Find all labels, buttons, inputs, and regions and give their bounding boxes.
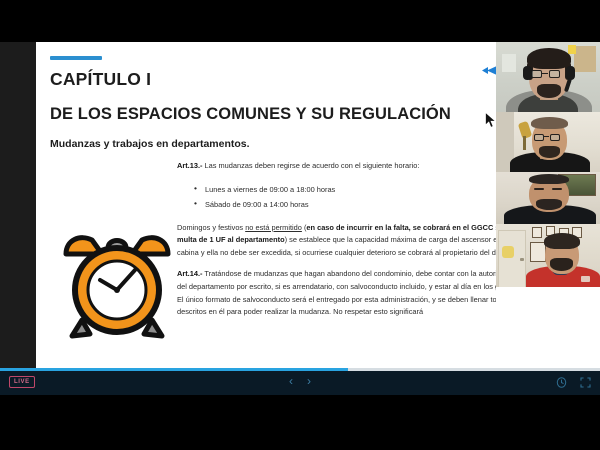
section-title: DE LOS ESPACIOS COMUNES Y SU REGULACIÓN [50, 105, 566, 124]
shared-slide[interactable]: CAPÍTULO I DE LOS ESPACIOS COMUNES Y SU … [36, 42, 566, 368]
previous-slide-button[interactable]: ‹ [289, 374, 293, 388]
next-slide-button[interactable]: › [307, 374, 311, 388]
video-column-filler [496, 287, 600, 368]
domingos-part1: Domingos y festivos [177, 223, 245, 232]
toolbar-right-controls [556, 375, 591, 393]
participant-video-column: participant-1 [496, 42, 600, 368]
domingos-underlined: no está permitido [245, 223, 302, 232]
meeting-window: CAPÍTULO I DE LOS ESPACIOS COMUNES Y SU … [0, 0, 600, 450]
fullscreen-icon[interactable] [580, 375, 591, 393]
player-toolbar: LIVE ‹ › [0, 368, 600, 395]
participant-video-tile[interactable]: participant-3 [496, 172, 600, 224]
alarm-clock-icon [52, 228, 182, 346]
clock-icon[interactable] [556, 375, 567, 393]
article-13-label: Art.13.- [177, 161, 202, 170]
progress-fill [0, 368, 348, 371]
slide-gutter [0, 42, 36, 368]
article-13-intro: Las mudanzas deben regirse de acuerdo co… [202, 161, 419, 170]
participant-label: participant-2 [499, 164, 529, 170]
progress-track[interactable] [0, 368, 600, 371]
participant-video-tile[interactable]: participant-1 [496, 42, 600, 112]
participant-video-tile[interactable]: participant-2 [496, 112, 600, 172]
participant-video-tile[interactable]: participant-4 [496, 224, 600, 287]
slide-navigation: ‹ › [0, 374, 600, 388]
participant-label: participant-3 [499, 216, 529, 222]
subsection-title: Mudanzas y trabajos en departamentos. [50, 138, 566, 150]
participant-label: participant-1 [499, 104, 529, 110]
screenshare-stage: CAPÍTULO I DE LOS ESPACIOS COMUNES Y SU … [0, 42, 600, 368]
title-accent-rule [50, 56, 102, 60]
participant-label: participant-4 [499, 279, 529, 285]
